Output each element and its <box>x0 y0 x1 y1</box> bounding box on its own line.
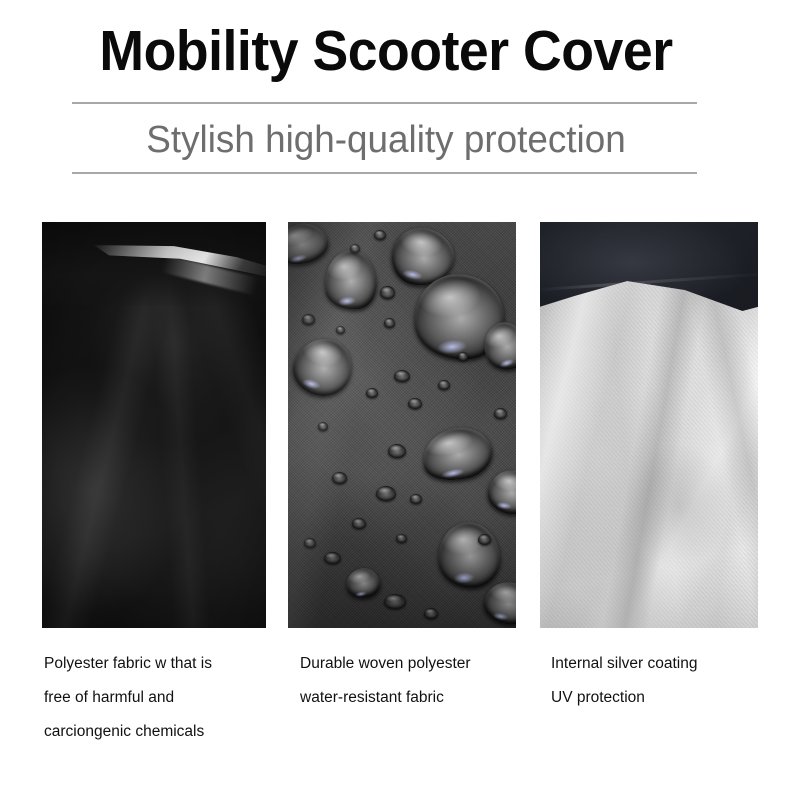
feature-caption-black-polyester: Polyester fabric w that is free of harmf… <box>44 647 274 749</box>
divider-top <box>72 102 697 104</box>
product-infographic: Mobility Scooter Cover Stylish high-qual… <box>0 0 800 800</box>
page-title: Mobility Scooter Cover <box>91 18 681 84</box>
feature-caption-silver-coating: Internal silver coating UV protection <box>551 647 781 715</box>
feature-image-water-repellent <box>288 222 516 628</box>
fabric-fold-shading <box>288 222 516 628</box>
vignette-overlay <box>42 222 266 628</box>
feature-image-silver-coating <box>540 222 758 628</box>
feature-caption-water-repellent: Durable woven polyester water-resistant … <box>300 647 530 715</box>
divider-bottom <box>72 172 697 174</box>
vignette-overlay <box>540 222 758 628</box>
feature-image-black-polyester <box>42 222 266 628</box>
page-subtitle: Stylish high-quality protection <box>81 112 690 168</box>
